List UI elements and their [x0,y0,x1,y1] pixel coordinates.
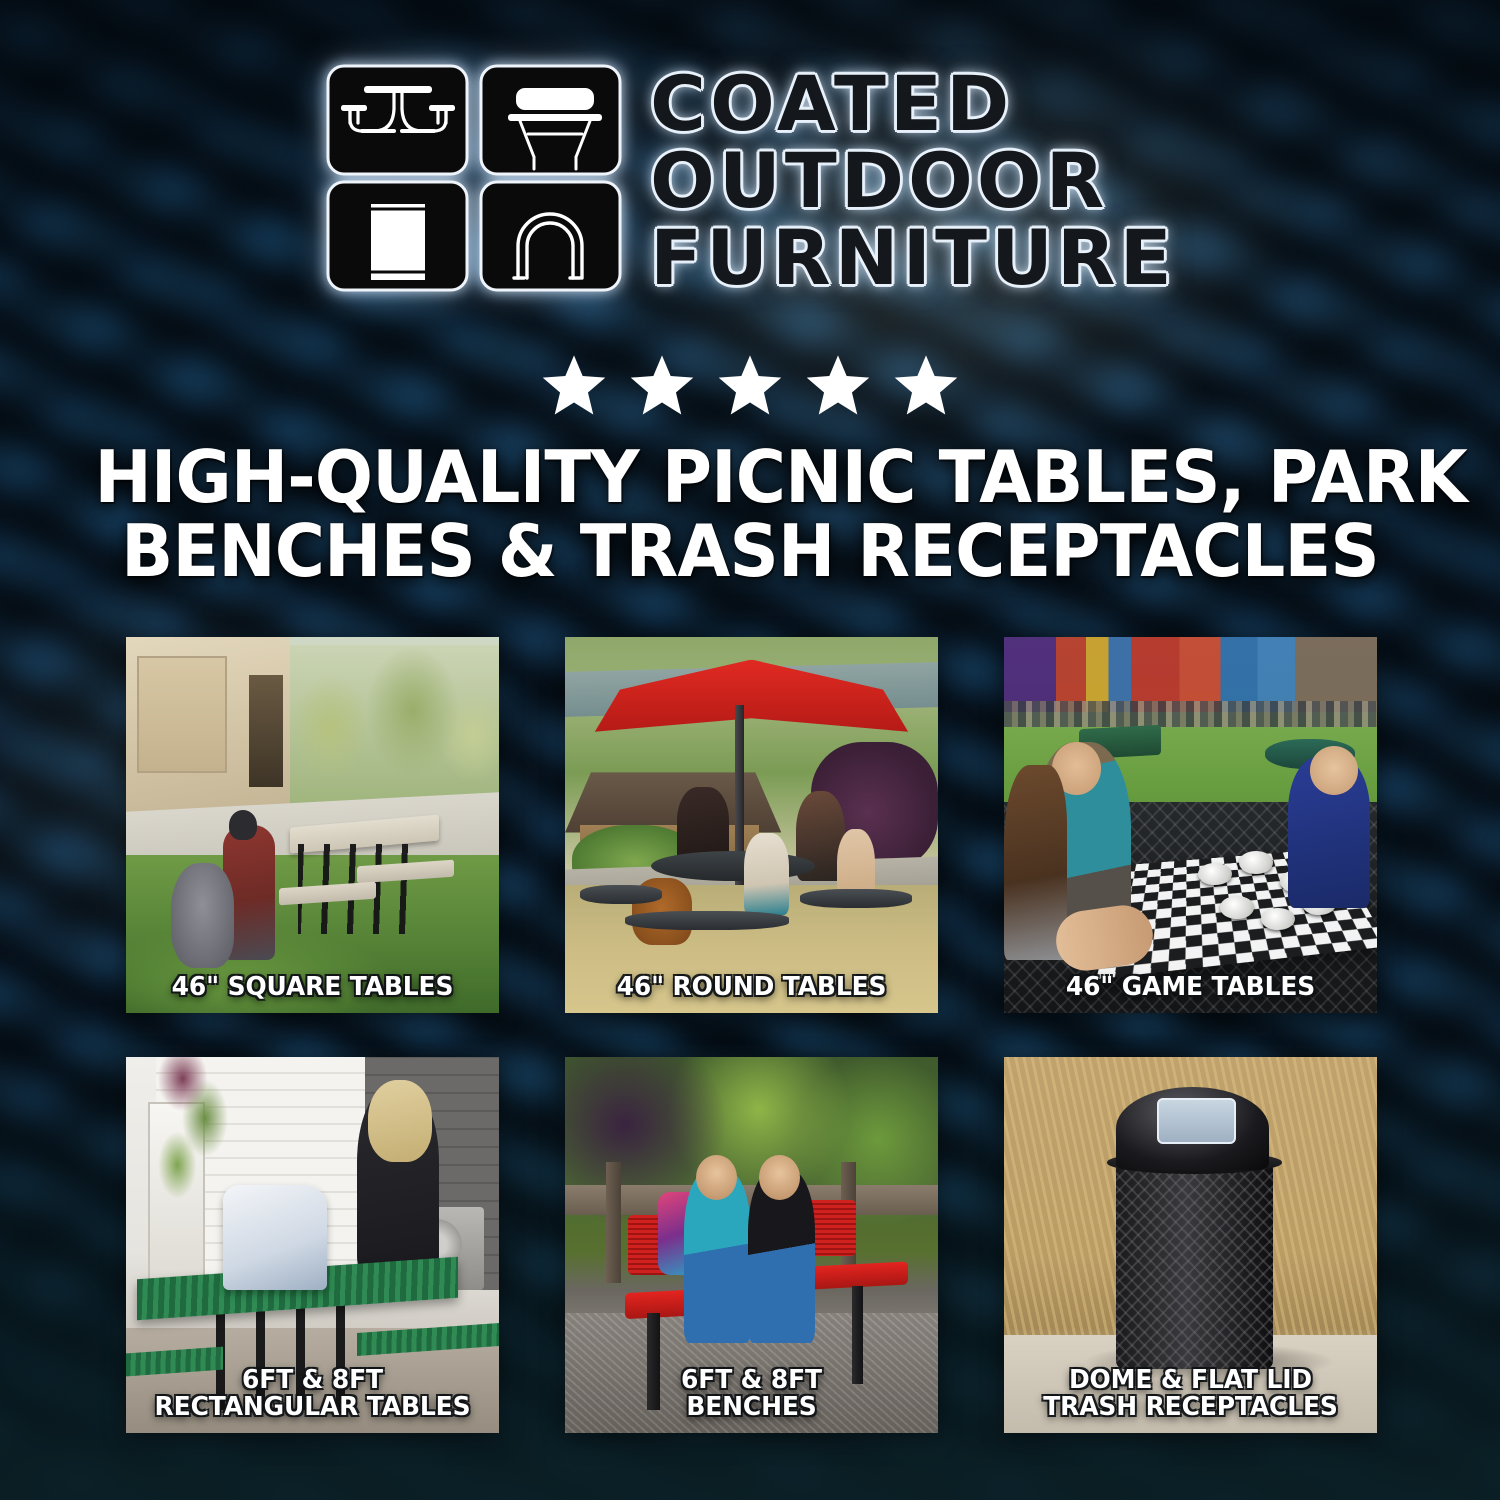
product-tile-benches[interactable]: 6FT & 8FT BENCHES [565,1057,938,1433]
product-tile-game-tables[interactable]: 46" GAME TABLES [1004,637,1377,1013]
page-headline: HIGH-QUALITY PICNIC TABLES, PARK BENCHES… [95,440,1406,588]
tile-caption-line-1: 6FT & 8FT [141,1367,484,1394]
star-icon [539,352,609,419]
star-icon [891,352,961,419]
photo-round-tables [565,637,938,1013]
star-icon [627,352,697,419]
four-quadrant-furniture-icon [324,62,624,294]
product-tile-trash-receptacles[interactable]: DOME & FLAT LID TRASH RECEPTACLES [1004,1057,1377,1433]
tile-caption: DOME & FLAT LID TRASH RECEPTACLES [1019,1367,1362,1421]
tile-caption-line-1: 46" ROUND TABLES [580,974,923,1001]
promo-banner: COATED OUTDOOR FURNITURE HIGH-QUALITY PI… [0,0,1500,1500]
product-tile-square-tables[interactable]: 46" SQUARE TABLES [126,637,499,1013]
tile-caption-line-2: TRASH RECEPTACLES [1019,1394,1362,1421]
tile-caption-line-1: DOME & FLAT LID [1019,1367,1362,1394]
tile-caption: 46" ROUND TABLES [580,974,923,1001]
tile-caption: 46" SQUARE TABLES [141,974,484,1001]
wordmark-line-2: OUTDOOR [650,145,1176,218]
tile-caption: 46" GAME TABLES [1019,974,1362,1001]
tile-caption-line-2: BENCHES [580,1394,923,1421]
wordmark-line-1: COATED [650,68,1176,141]
product-tile-round-tables[interactable]: 46" ROUND TABLES [565,637,938,1013]
tile-caption: 6FT & 8FT RECTANGULAR TABLES [141,1367,484,1421]
brand-wordmark: COATED OUTDOOR FURNITURE [650,62,1176,295]
headline-line-1: HIGH-QUALITY PICNIC TABLES, PARK [95,440,1406,514]
tile-caption-line-2: RECTANGULAR TABLES [141,1394,484,1421]
star-icon [803,352,873,419]
photo-game-tables [1004,637,1377,1013]
tile-caption-line-1: 46" SQUARE TABLES [141,974,484,1001]
tile-caption: 6FT & 8FT BENCHES [580,1367,923,1421]
tile-caption-line-1: 46" GAME TABLES [1019,974,1362,1001]
star-icon [715,352,785,419]
headline-line-2: BENCHES & TRASH RECEPTACLES [95,514,1406,588]
rating-stars [0,352,1500,419]
brand-logo: COATED OUTDOOR FURNITURE [0,62,1500,295]
photo-square-tables [126,637,499,1013]
tile-caption-line-1: 6FT & 8FT [580,1367,923,1394]
product-tile-rectangular-tables[interactable]: 6FT & 8FT RECTANGULAR TABLES [126,1057,499,1433]
product-category-grid: 46" SQUARE TABLES 46" ROUND TABLES [126,637,1376,1433]
wordmark-line-3: FURNITURE [650,222,1176,295]
